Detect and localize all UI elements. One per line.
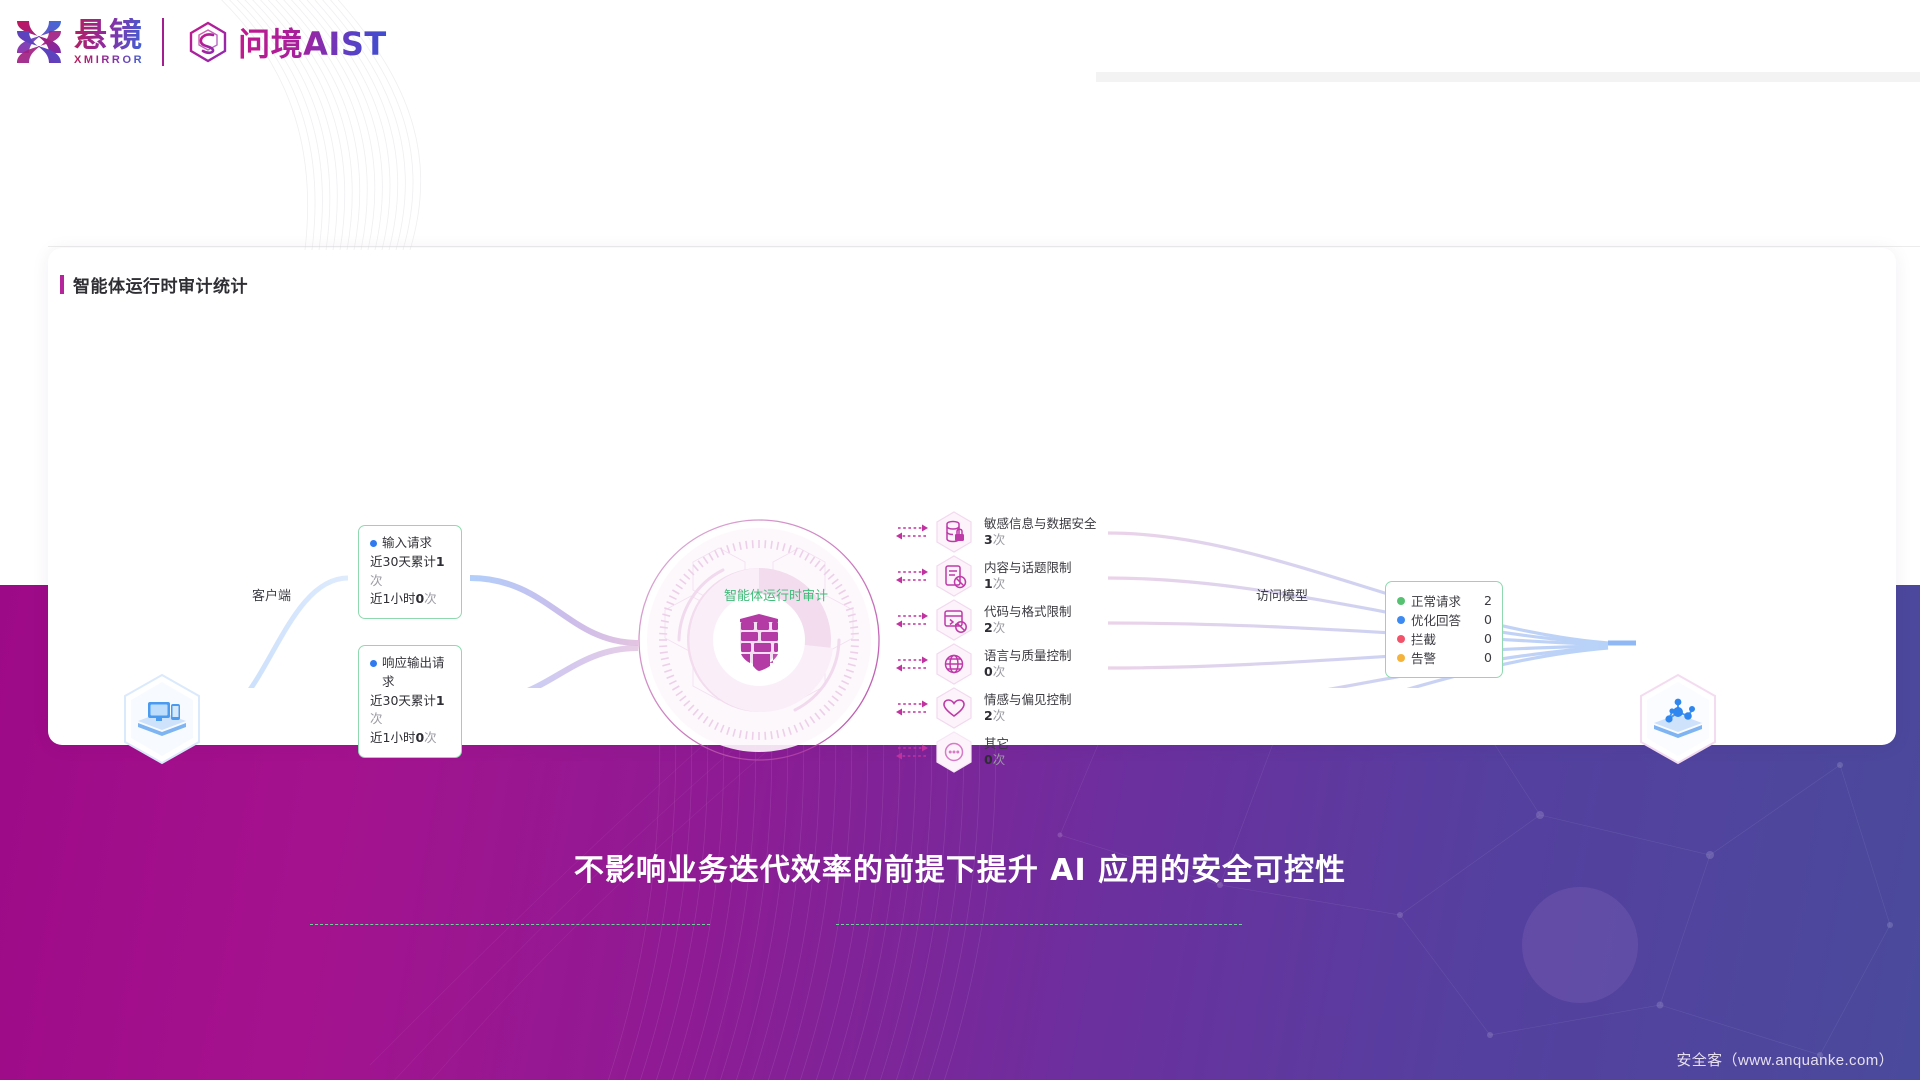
bidirectional-arrows-icon	[896, 519, 930, 545]
stat-card-header: 响应输出请求	[370, 654, 451, 692]
client-node[interactable]	[120, 672, 204, 766]
flow-axis: 客户端 智能体运行时审计 访问模型	[48, 580, 1896, 610]
client-devices-icon	[120, 672, 204, 766]
legend-label: 拦截	[1411, 629, 1484, 648]
category-label: 情感与偏见控制	[984, 692, 1104, 708]
legend-label: 告警	[1411, 648, 1484, 667]
category-row[interactable]: 敏感信息与数据安全 3次	[896, 510, 1116, 554]
slide-root: 悬镜 XMIRROR 问境AIST	[0, 0, 1920, 1080]
audit-category-list: 敏感信息与数据安全 3次	[896, 510, 1116, 774]
stat-line-1h: 近1小时0次	[370, 729, 451, 748]
dna-ribbon-icon	[10, 13, 68, 71]
brand-name-cn: 悬镜	[74, 18, 144, 53]
stat-line-30d: 近30天累计1次	[370, 692, 451, 730]
stat-card-name: 响应输出请求	[382, 654, 451, 692]
globe-icon	[934, 642, 974, 686]
status-dot-icon	[370, 660, 377, 667]
brand-name-en: XMIRROR	[74, 54, 144, 66]
category-text: 情感与偏见控制 2次	[984, 692, 1104, 724]
legend-row: 拦截 0	[1397, 629, 1492, 648]
category-count: 2次	[984, 620, 1005, 635]
header-band	[1096, 72, 1920, 82]
category-text: 语言与质量控制 0次	[984, 648, 1104, 680]
legend-dot-icon	[1397, 654, 1405, 662]
legend-value: 0	[1484, 650, 1492, 665]
category-label: 敏感信息与数据安全	[984, 516, 1104, 532]
legend-label: 优化回答	[1411, 610, 1484, 629]
audit-ring-chart[interactable]	[637, 518, 881, 762]
watermark-text: 安全客（www.anquanke.com）	[1676, 1049, 1894, 1070]
legend-dot-icon	[1397, 616, 1405, 624]
axis-label-model: 访问模型	[1256, 585, 1308, 604]
ellipsis-icon	[934, 730, 974, 774]
header-rule	[48, 246, 1920, 247]
heart-icon	[934, 686, 974, 730]
banner-headline: 不影响业务迭代效率的前提下提升 AI 应用的安全可控性	[0, 845, 1920, 889]
legend-dot-icon	[1397, 635, 1405, 643]
legend-value: 0	[1484, 612, 1492, 627]
logo-divider	[162, 18, 164, 66]
category-label: 其它	[984, 736, 1104, 752]
bidirectional-arrows-icon	[896, 739, 930, 765]
category-count: 3次	[984, 532, 1005, 547]
axis-label-client: 客户端	[252, 585, 291, 604]
stat-card-header: 输入请求	[370, 534, 451, 553]
model-node[interactable]	[1636, 672, 1720, 766]
bidirectional-arrows-icon	[896, 607, 930, 633]
brand-logo[interactable]: 悬镜 XMIRROR 问境AIST	[10, 8, 387, 76]
legend-row: 告警 0	[1397, 648, 1492, 667]
product-name: 问境AIST	[238, 19, 387, 65]
category-text: 其它 0次	[984, 736, 1104, 768]
status-dot-icon	[370, 540, 377, 547]
product-logo[interactable]: 问境AIST	[186, 19, 387, 65]
category-row[interactable]: 情感与偏见控制 2次	[896, 686, 1116, 730]
axis-dash-left	[310, 924, 710, 925]
hexagon-s-icon	[186, 20, 230, 64]
category-label: 语言与质量控制	[984, 648, 1104, 664]
data-lock-icon	[934, 510, 974, 554]
legend-row: 优化回答 0	[1397, 610, 1492, 629]
audit-flow-diagram: 输入请求 近30天累计1次 近1小时0次 响应输出请求 近30天累计1次 近1小…	[48, 248, 1896, 745]
axis-label-audit: 智能体运行时审计	[724, 585, 828, 604]
stat-card-response-output: 响应输出请求 近30天累计1次 近1小时0次	[358, 645, 462, 758]
category-row[interactable]: 语言与质量控制 0次	[896, 642, 1116, 686]
stat-card-name: 输入请求	[382, 534, 432, 553]
category-count: 0次	[984, 664, 1005, 679]
category-label: 内容与话题限制	[984, 560, 1104, 576]
bidirectional-arrows-icon	[896, 695, 930, 721]
category-row[interactable]: 其它 0次	[896, 730, 1116, 774]
category-count: 0次	[984, 752, 1005, 767]
legend-value: 0	[1484, 631, 1492, 646]
audit-stats-card: 智能体运行时审计统计	[48, 248, 1896, 745]
bidirectional-arrows-icon	[896, 651, 930, 677]
axis-dash-right	[836, 924, 1242, 925]
category-text: 敏感信息与数据安全 3次	[984, 516, 1104, 548]
category-count: 2次	[984, 708, 1005, 723]
page-header: 悬镜 XMIRROR 问境AIST	[0, 0, 1920, 88]
model-network-icon	[1636, 672, 1720, 766]
